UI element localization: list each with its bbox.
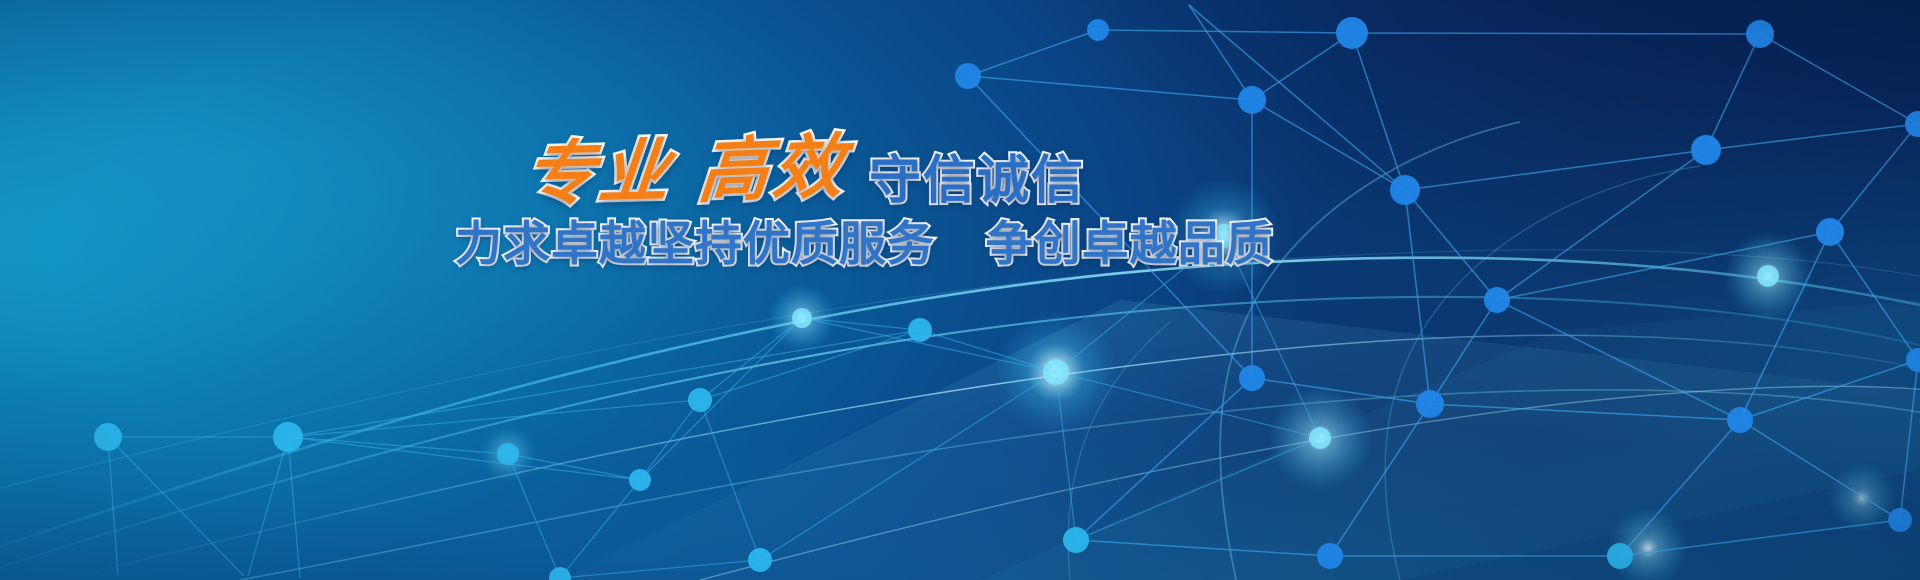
headline-tagline-trustworthy: 守信诚信 [869, 155, 1085, 207]
subtitle-part-two: 争创卓越品质 [986, 217, 1274, 272]
headline-block: 专业 高效 守信诚信 力求卓越坚持优质服务 争创卓越品质 [455, 132, 1155, 271]
headline-keyword-professional: 专业 [521, 136, 676, 210]
subtitle-part-one: 力求卓越坚持优质服务 [455, 217, 935, 272]
headline-keyword-efficient: 高效 [696, 131, 850, 207]
headline-subtitle-line: 力求卓越坚持优质服务 争创卓越品质 [455, 220, 1155, 271]
headline-primary-line: 专业 高效 守信诚信 [455, 132, 1155, 210]
promo-banner: 专业 高效 守信诚信 力求卓越坚持优质服务 争创卓越品质 [0, 0, 1920, 580]
background-vignette [0, 0, 1920, 580]
